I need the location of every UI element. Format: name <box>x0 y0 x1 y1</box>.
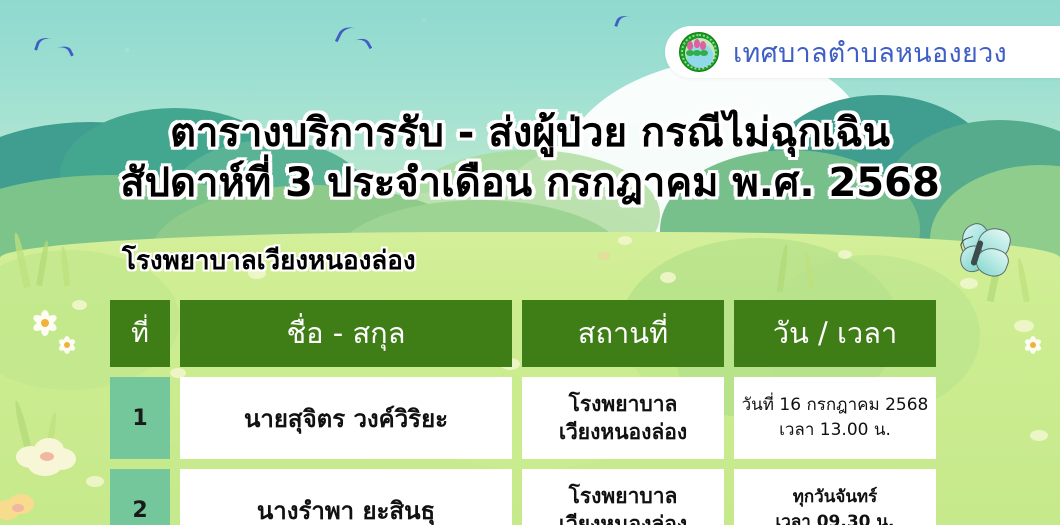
table-row: 2 นางรำพา ยะสินธุ โรงพยาบาล เวียงหนองล่อ… <box>110 469 958 525</box>
hospital-subtitle: โรงพยาบาลเวียงหนองล่อง <box>122 240 416 281</box>
organization-name: เทศบาลตำบลหนองยวง <box>733 31 1007 74</box>
row-place-value: โรงพยาบาล เวียงหนองล่อง <box>522 377 724 459</box>
petal-dot <box>86 476 104 487</box>
row-time-line-2: เวลา 09.30 น. <box>775 510 894 525</box>
petal-dot <box>660 272 676 283</box>
daisy-flower-icon <box>58 336 76 354</box>
flower-icon <box>0 494 42 525</box>
page-title: ตารางบริการรับ - ส่งผู้ป่วย กรณีไม่ฉุกเฉ… <box>0 108 1060 208</box>
row-cell-name: นางรำพา ยะสินธุ <box>180 469 512 525</box>
row-cell-no: 1 <box>110 377 170 459</box>
row-time-line-1: วันที่ 16 กรกฎาคม 2568 <box>742 393 929 418</box>
daisy-flower-icon <box>32 310 58 336</box>
row-cell-place: โรงพยาบาล เวียงหนองล่อง <box>522 469 724 525</box>
row-no-value: 2 <box>110 469 170 525</box>
row-cell-time: วันที่ 16 กรกฎาคม 2568 เวลา 13.00 น. <box>734 377 936 459</box>
row-time-line-1: ทุกวันจันทร์ <box>775 485 894 510</box>
header-cell-time: วัน / เวลา <box>734 300 936 367</box>
petal-dot <box>72 300 87 310</box>
title-line-1: ตารางบริการรับ - ส่งผู้ป่วย กรณีไม่ฉุกเฉ… <box>0 108 1060 158</box>
row-cell-time: ทุกวันจันทร์ เวลา 09.30 น. <box>734 469 936 525</box>
header-place-label: สถานที่ <box>522 300 724 367</box>
row-time-line-2: เวลา 13.00 น. <box>742 418 929 443</box>
row-time-value: ทุกวันจันทร์ เวลา 09.30 น. <box>734 469 936 525</box>
butterfly-icon <box>944 222 1014 286</box>
schedule-table: ที่ ชื่อ - สกุล สถานที่ วัน / เวลา 1 นาย… <box>110 300 958 525</box>
row-time-value: วันที่ 16 กรกฎาคม 2568 เวลา 13.00 น. <box>734 377 936 459</box>
table-row: 1 นายสุจิตร วงค์วิริยะ โรงพยาบาล เวียงหน… <box>110 377 958 459</box>
header-name-label: ชื่อ - สกุล <box>180 300 512 367</box>
row-cell-place: โรงพยาบาล เวียงหนองล่อง <box>522 377 724 459</box>
title-line-2: สัปดาห์ที่ 3 ประจำเดือน กรกฎาคม พ.ศ. 256… <box>0 158 1060 208</box>
petal-dot <box>1014 320 1034 332</box>
row-place-line-1: โรงพยาบาล <box>559 482 687 510</box>
organization-banner: เทศบาลตำบลหนองยวง <box>665 26 1060 78</box>
header-cell-place: สถานที่ <box>522 300 724 367</box>
header-cell-name: ชื่อ - สกุล <box>180 300 512 367</box>
petal-dot <box>618 236 632 245</box>
petal-dot <box>838 250 852 259</box>
header-time-label: วัน / เวลา <box>734 300 936 367</box>
row-place-line-2: เวียงหนองล่อง <box>559 418 687 446</box>
municipal-seal-icon <box>679 32 719 72</box>
petal-dot <box>598 252 610 260</box>
poster-canvas: เทศบาลตำบลหนองยวง ตารางบริการรับ - ส่งผู… <box>0 0 1060 525</box>
row-place-line-1: โรงพยาบาล <box>559 390 687 418</box>
table-header-row: ที่ ชื่อ - สกุล สถานที่ วัน / เวลา <box>110 300 958 367</box>
petal-dot <box>1030 430 1048 441</box>
flower-icon <box>16 438 78 478</box>
row-cell-name: นายสุจิตร วงค์วิริยะ <box>180 377 512 459</box>
daisy-flower-icon <box>1024 336 1042 354</box>
header-cell-no: ที่ <box>110 300 170 367</box>
row-no-value: 1 <box>110 377 170 459</box>
row-place-line-2: เวียงหนองล่อง <box>559 510 687 525</box>
row-cell-no: 2 <box>110 469 170 525</box>
row-place-value: โรงพยาบาล เวียงหนองล่อง <box>522 469 724 525</box>
row-name-value: นางรำพา ยะสินธุ <box>180 469 512 525</box>
row-name-value: นายสุจิตร วงค์วิริยะ <box>180 377 512 459</box>
header-no-label: ที่ <box>110 300 170 367</box>
